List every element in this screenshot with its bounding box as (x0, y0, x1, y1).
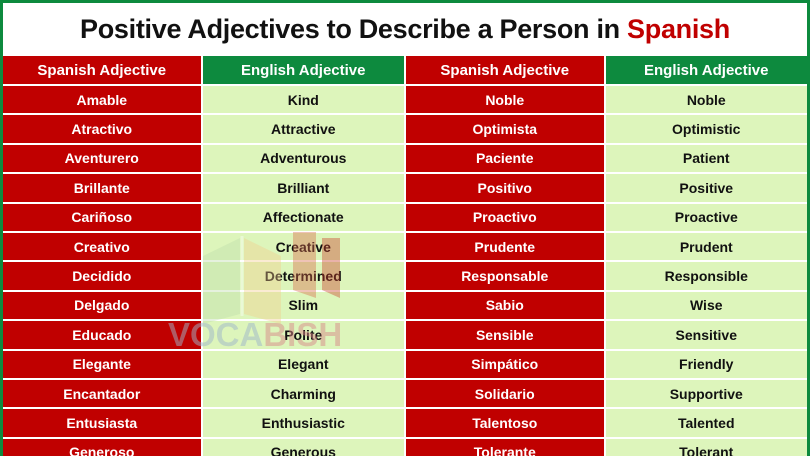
cell-english-left: Charming (203, 380, 404, 409)
cell-english-left: Elegant (203, 351, 404, 380)
cell-english-right: Friendly (606, 351, 807, 380)
cell-spanish-right: Solidario (406, 380, 604, 409)
cell-english-left: Adventurous (203, 145, 404, 174)
cell-spanish-right: Optimista (406, 115, 604, 144)
cell-english-right: Optimistic (606, 115, 807, 144)
cell-spanish-left: Decidido (3, 262, 201, 291)
page-title-bar: Positive Adjectives to Describe a Person… (3, 3, 807, 56)
cell-spanish-left: Atractivo (3, 115, 201, 144)
table-row: EntusiastaEnthusiasticTalentosoTalented (3, 409, 807, 438)
cell-spanish-left: Generoso (3, 439, 201, 456)
cell-spanish-left: Delgado (3, 292, 201, 321)
table-row: CariñosoAffectionateProactivoProactive (3, 204, 807, 233)
cell-spanish-right: Noble (406, 86, 604, 115)
table-row: EncantadorCharmingSolidarioSupportive (3, 380, 807, 409)
cell-english-right: Prudent (606, 233, 807, 262)
table-body: AmableKindNobleNobleAtractivoAttractiveO… (3, 86, 807, 456)
table-row: AventureroAdventurousPacientePatient (3, 145, 807, 174)
cell-english-right: Sensitive (606, 321, 807, 350)
page-title-main: Positive Adjectives to Describe a Person… (80, 14, 620, 44)
page-title: Positive Adjectives to Describe a Person… (80, 14, 730, 45)
cell-spanish-right: Positivo (406, 174, 604, 203)
table-row: AtractivoAttractiveOptimistaOptimistic (3, 115, 807, 144)
table-row: GenerosoGenerousToleranteTolerant (3, 439, 807, 456)
cell-spanish-left: Amable (3, 86, 201, 115)
page-title-accent: Spanish (627, 14, 730, 44)
cell-english-left: Affectionate (203, 204, 404, 233)
column-header-english-left: English Adjective (203, 56, 404, 86)
cell-spanish-left: Aventurero (3, 145, 201, 174)
cell-spanish-right: Sensible (406, 321, 604, 350)
cell-english-left: Enthusiastic (203, 409, 404, 438)
cell-english-left: Determined (203, 262, 404, 291)
cell-spanish-left: Creativo (3, 233, 201, 262)
cell-english-right: Supportive (606, 380, 807, 409)
cell-spanish-left: Encantador (3, 380, 201, 409)
cell-english-left: Creative (203, 233, 404, 262)
cell-spanish-left: Elegante (3, 351, 201, 380)
table-row: AmableKindNobleNoble (3, 86, 807, 115)
cell-spanish-right: Prudente (406, 233, 604, 262)
table-row: EducadoPoliteSensibleSensitive (3, 321, 807, 350)
table-row: EleganteElegantSimpáticoFriendly (3, 351, 807, 380)
cell-spanish-left: Brillante (3, 174, 201, 203)
cell-english-right: Wise (606, 292, 807, 321)
cell-spanish-left: Entusiasta (3, 409, 201, 438)
cell-english-right: Positive (606, 174, 807, 203)
table-row: DelgadoSlimSabioWise (3, 292, 807, 321)
column-header-spanish-right: Spanish Adjective (406, 56, 604, 86)
cell-spanish-right: Sabio (406, 292, 604, 321)
cell-english-right: Tolerant (606, 439, 807, 456)
cell-english-right: Responsible (606, 262, 807, 291)
cell-english-left: Brilliant (203, 174, 404, 203)
cell-spanish-left: Cariñoso (3, 204, 201, 233)
column-header-spanish-left: Spanish Adjective (3, 56, 201, 86)
cell-spanish-left: Educado (3, 321, 201, 350)
cell-english-left: Slim (203, 292, 404, 321)
cell-spanish-right: Talentoso (406, 409, 604, 438)
cell-english-right: Talented (606, 409, 807, 438)
cell-spanish-right: Responsable (406, 262, 604, 291)
table-row: CreativoCreativePrudentePrudent (3, 233, 807, 262)
column-header-english-right: English Adjective (606, 56, 807, 86)
cell-english-left: Attractive (203, 115, 404, 144)
cell-english-left: Kind (203, 86, 404, 115)
cell-spanish-right: Tolerante (406, 439, 604, 456)
cell-english-right: Proactive (606, 204, 807, 233)
table-header-row: Spanish Adjective English Adjective Span… (3, 56, 807, 86)
cell-english-left: Polite (203, 321, 404, 350)
cell-english-left: Generous (203, 439, 404, 456)
cell-spanish-right: Proactivo (406, 204, 604, 233)
table-row: DecididoDeterminedResponsableResponsible (3, 262, 807, 291)
table-row: BrillanteBrilliantPositivoPositive (3, 174, 807, 203)
cell-english-right: Patient (606, 145, 807, 174)
cell-spanish-right: Simpático (406, 351, 604, 380)
cell-spanish-right: Paciente (406, 145, 604, 174)
infographic-page: Positive Adjectives to Describe a Person… (0, 0, 810, 456)
cell-english-right: Noble (606, 86, 807, 115)
adjectives-table: Spanish Adjective English Adjective Span… (3, 56, 807, 456)
